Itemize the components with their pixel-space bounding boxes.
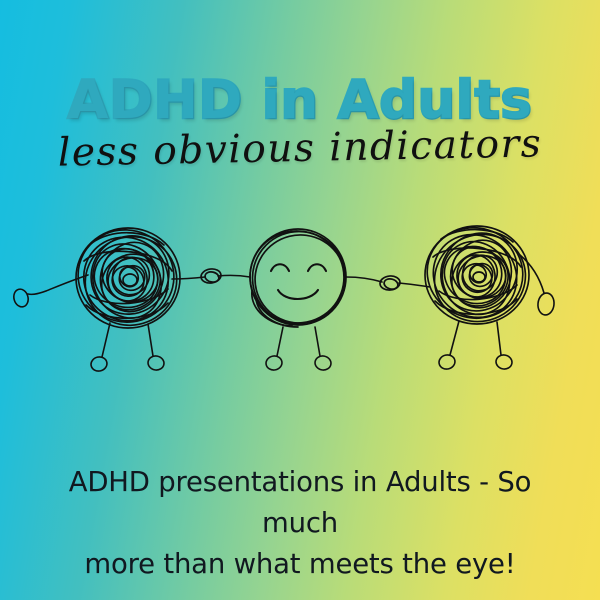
left-eye-icon bbox=[271, 264, 289, 271]
center-figure-head bbox=[243, 224, 355, 333]
poster-canvas: ADHD in Adults less obvious indicators bbox=[0, 0, 600, 600]
center-figure-legs bbox=[265, 327, 332, 371]
handhold-right bbox=[379, 275, 400, 291]
smile-icon bbox=[278, 290, 318, 299]
caption-line-2: more than what meets the eye! bbox=[30, 544, 570, 585]
page-subtitle: less obvious indicators bbox=[0, 123, 600, 174]
right-figure-scribble-head bbox=[416, 217, 540, 337]
smiley-figure-center bbox=[218, 224, 382, 372]
center-figure-arms bbox=[218, 275, 382, 282]
left-figure-legs bbox=[90, 323, 165, 373]
scribble-figure-left bbox=[12, 220, 205, 373]
page-title: ADHD in Adults bbox=[0, 74, 600, 127]
doodle-illustration bbox=[0, 205, 600, 400]
caption-line-1: ADHD presentations in Adults - So much bbox=[30, 462, 570, 544]
right-figure-legs bbox=[438, 321, 513, 371]
title-block: ADHD in Adults less obvious indicators bbox=[0, 74, 600, 168]
center-figure-face bbox=[271, 264, 326, 299]
right-figure-free-arm bbox=[520, 255, 555, 316]
caption-text: ADHD presentations in Adults - So much m… bbox=[30, 462, 570, 585]
handhold-left bbox=[200, 268, 222, 285]
right-eye-icon bbox=[308, 264, 326, 271]
scribble-figure-right bbox=[399, 217, 555, 371]
